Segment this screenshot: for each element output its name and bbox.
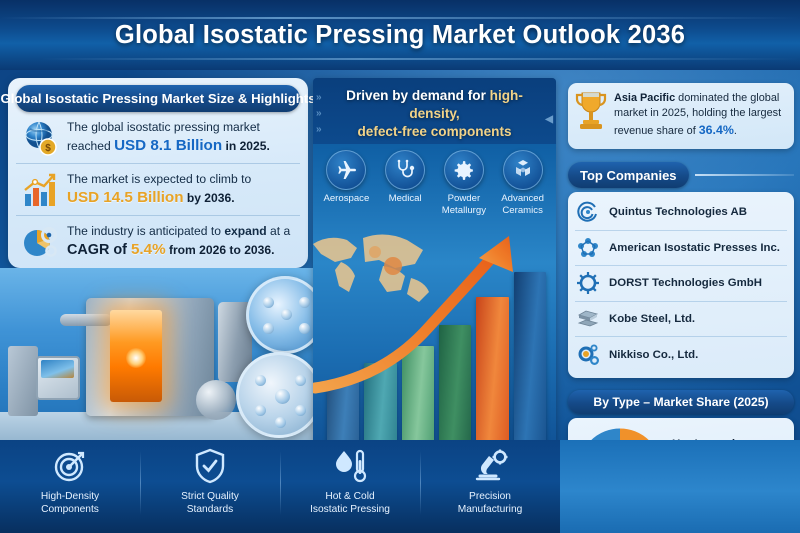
bar-4 — [439, 325, 471, 448]
demand-drivers-panel: » » » ◀ Driven by demand for high-densit… — [313, 78, 556, 463]
molecule-icon — [575, 235, 601, 261]
industry-advanced-ceramics[interactable]: AdvancedCeramics — [495, 150, 551, 216]
globe-dollar-icon: $ — [20, 118, 60, 158]
company-name: DORST Technologies GmbH — [609, 277, 762, 289]
region-share-value: 36.4% — [699, 123, 734, 137]
stat-row-market-2036: The market is expected to climb to USD 1… — [16, 164, 300, 216]
stat-text-market-2025: The global isostatic pressing market rea… — [67, 119, 270, 157]
growth-chart: 2025 → 2036 — [313, 218, 556, 463]
airplane-icon — [326, 150, 366, 190]
region-text-end: . — [734, 125, 737, 137]
cagr-line1-pre: The industry is anticipated to — [67, 224, 224, 238]
cagr-line1-post: at a — [267, 224, 291, 238]
bottom-right-accent — [556, 440, 800, 533]
by-type-header: By Type – Market Share (2025) — [568, 390, 794, 414]
feature-high-density[interactable]: High-DensityComponents — [0, 447, 140, 516]
bar-series — [327, 272, 546, 447]
industry-aerospace[interactable]: Aerospace — [318, 150, 374, 216]
market-size-highlights-card: Global Isostatic Pressing Market Size & … — [8, 78, 308, 268]
bar-6 — [514, 272, 546, 447]
molecule-inset-icon — [236, 352, 322, 438]
gear-ring-icon — [575, 270, 601, 296]
microscope-gear-icon — [471, 447, 509, 485]
top-companies-list: Quintus Technologies AB American Isostat… — [568, 192, 794, 378]
cagr-value: 5.4% — [131, 241, 166, 258]
shield-check-icon — [191, 447, 229, 485]
target-icon — [51, 447, 89, 485]
stat-value-14-5-billion: USD 14.5 Billion — [67, 189, 183, 206]
by-type-title: By Type – Market Share (2025) — [568, 390, 794, 414]
bar-chart-growth-icon — [20, 170, 60, 210]
industry-label-powder-metallurgy: PowderMetallurgy — [436, 193, 492, 216]
cubes-icon — [503, 150, 543, 190]
list-item[interactable]: American Isostatic Presses Inc. — [575, 231, 787, 267]
left-section-title: Global Isostatic Pressing Market Size & … — [16, 85, 300, 112]
asia-pacific-text: Asia Pacific dominated the global market… — [614, 89, 786, 149]
infographic-canvas: Global Isostatic Pressing Market Outlook… — [0, 0, 800, 533]
company-name: American Isostatic Presses Inc. — [609, 242, 780, 254]
list-item[interactable]: Nikkiso Co., Ltd. — [575, 337, 787, 373]
stat-value-8-1-billion: USD 8.1 Billion — [114, 137, 222, 154]
cagr-range: from 2026 to 2036. — [166, 243, 275, 257]
metal-sphere-part — [196, 380, 236, 420]
demand-headline-block: » » » ◀ Driven by demand for high-densit… — [313, 78, 556, 144]
stat-line1: The global isostatic pressing market — [67, 119, 270, 136]
svg-text:$: $ — [45, 143, 51, 154]
top-companies-header: Top Companies — [568, 162, 794, 188]
industry-powder-metallurgy[interactable]: PowderMetallurgy — [436, 150, 492, 216]
chevron-right-icon: » — [316, 92, 322, 103]
demand-headline: Driven by demand for high-density, defec… — [323, 87, 546, 141]
stethoscope-icon — [385, 150, 425, 190]
swirl-icon — [575, 199, 601, 225]
bar-3 — [402, 346, 434, 448]
stat-line2-pre: reached — [67, 139, 114, 153]
droplet-thermometer-icon — [331, 447, 369, 485]
stat-row-cagr: The industry is anticipated to expand at… — [16, 216, 300, 267]
industry-icon-row: Aerospace Medical — [313, 144, 556, 216]
bottom-feature-bar: High-DensityComponents Strict QualitySta… — [0, 440, 560, 533]
company-name: Kobe Steel, Ltd. — [609, 313, 695, 325]
feature-hot-cold[interactable]: Hot & ColdIsostatic Pressing — [280, 447, 420, 516]
chevron-right-icon: » — [316, 108, 322, 119]
bar-1 — [327, 381, 359, 448]
gear-icon — [444, 150, 484, 190]
industry-label-aerospace: Aerospace — [318, 193, 374, 205]
list-item[interactable]: Quintus Technologies AB — [575, 195, 787, 231]
page-header: Global Isostatic Pressing Market Outlook… — [0, 0, 800, 70]
steel-beam-icon — [575, 306, 601, 332]
bar-2 — [364, 363, 396, 447]
gears-icon — [575, 342, 601, 368]
feature-label: Strict QualityStandards — [140, 490, 280, 516]
page-title: Global Isostatic Pressing Market Outlook… — [115, 21, 685, 50]
feature-strict-quality[interactable]: Strict QualityStandards — [140, 447, 280, 516]
top-companies-title: Top Companies — [568, 162, 689, 188]
feature-label: High-DensityComponents — [0, 490, 140, 516]
stat-text-cagr: The industry is anticipated to expand at… — [67, 223, 290, 261]
stat-line1: The market is expected to climb to — [67, 171, 251, 188]
chamber-glow — [126, 348, 146, 368]
stat-row-market-2025: $ The global isostatic pressing market r… — [16, 112, 300, 164]
feature-label: PrecisionManufacturing — [420, 490, 560, 516]
stat-line2-post: in 2025. — [222, 139, 270, 153]
machine-tower — [8, 346, 38, 416]
cagr-label: CAGR of — [67, 242, 131, 258]
industry-label-advanced-ceramics: AdvancedCeramics — [495, 193, 551, 216]
region-name: Asia Pacific — [614, 92, 675, 104]
stat-text-market-2036: The market is expected to climb to USD 1… — [67, 171, 251, 209]
bar-5 — [476, 297, 508, 448]
feature-precision[interactable]: PrecisionManufacturing — [420, 447, 560, 516]
company-name: Quintus Technologies AB — [609, 206, 747, 218]
company-name: Nikkiso Co., Ltd. — [609, 349, 698, 361]
feature-label: Hot & ColdIsostatic Pressing — [280, 490, 420, 516]
industry-medical[interactable]: Medical — [377, 150, 433, 216]
list-item[interactable]: DORST Technologies GmbH — [575, 266, 787, 302]
machine-pipe — [60, 314, 112, 326]
cagr-line1-bold: expand — [224, 224, 266, 238]
trophy-icon — [574, 89, 608, 133]
list-item[interactable]: Kobe Steel, Ltd. — [575, 302, 787, 338]
pie-gear-icon — [20, 222, 60, 262]
chevron-left-icon: ◀ — [545, 114, 553, 125]
header-rule — [695, 174, 794, 176]
isostatic-press-illustration — [0, 268, 330, 446]
headline-pre: Driven by demand for — [346, 88, 490, 103]
control-screen — [41, 360, 74, 378]
chevron-right-icon: » — [316, 124, 322, 135]
headline-hl2: defect-free components — [357, 124, 511, 139]
industry-label-medical: Medical — [377, 193, 433, 205]
stat-line2-post: by 2036. — [183, 191, 234, 205]
asia-pacific-card: Asia Pacific dominated the global market… — [568, 83, 794, 149]
